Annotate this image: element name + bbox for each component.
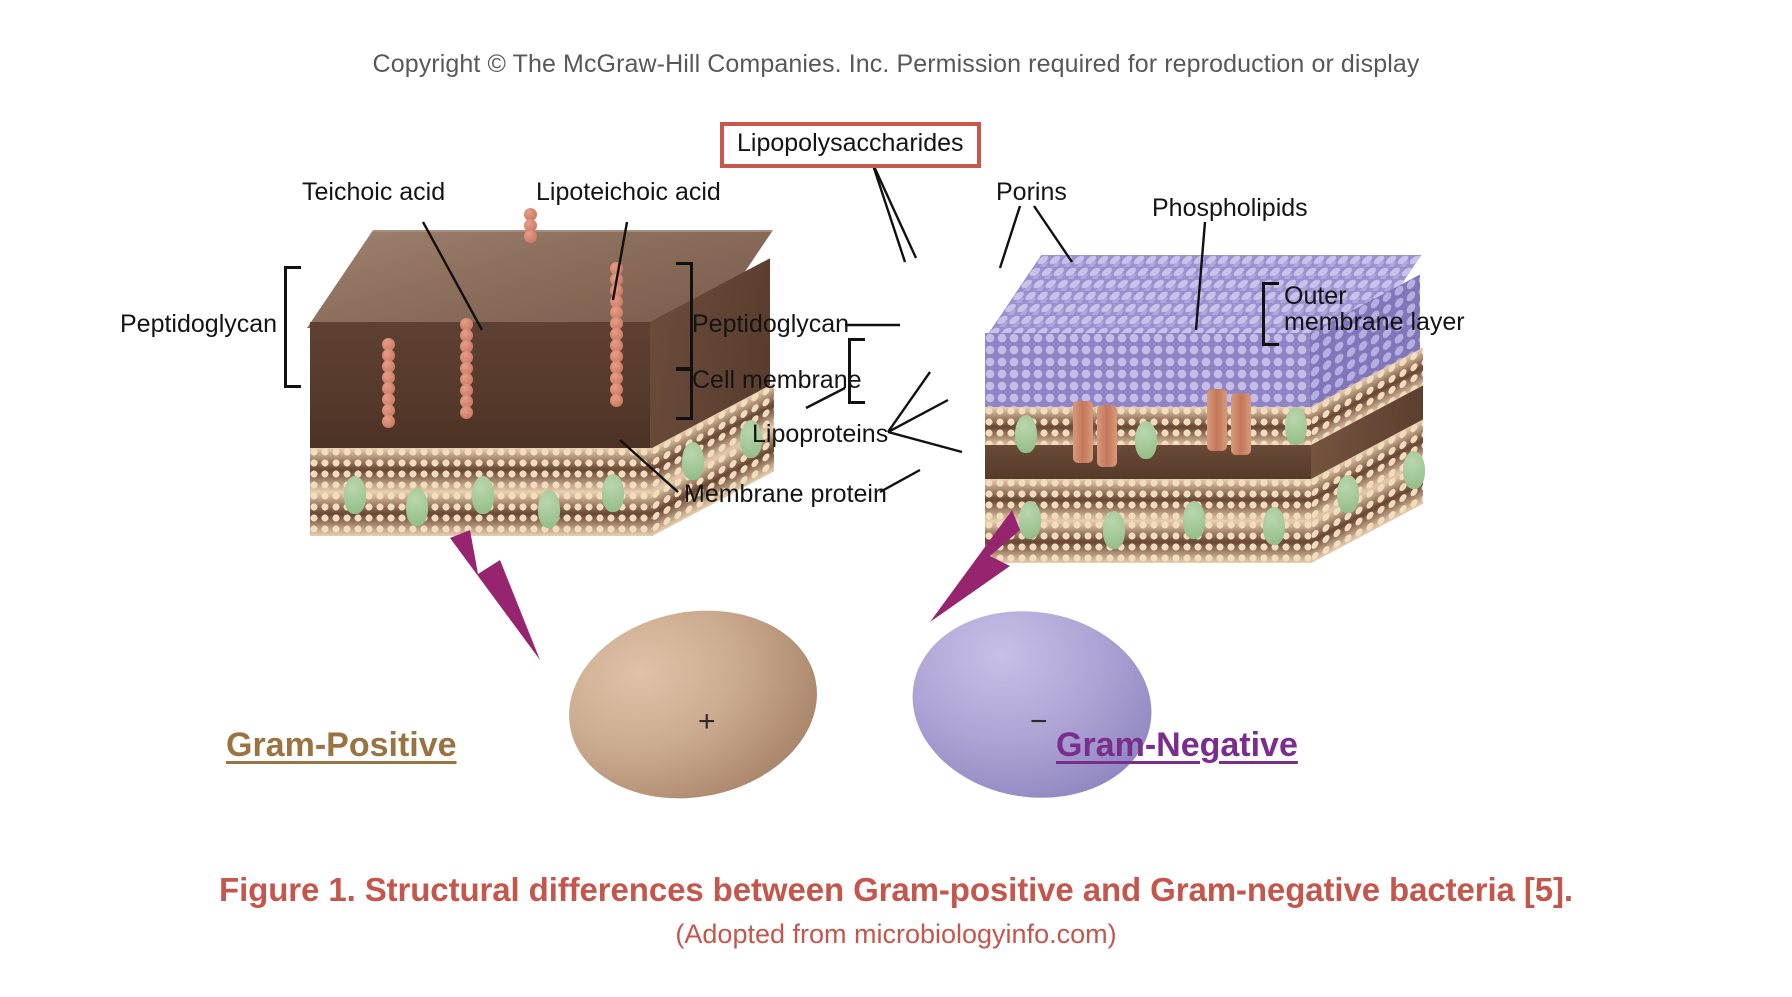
lipoprotein-glyph [1015,415,1037,453]
gram-positive-charge-sign: + [698,705,716,739]
leader-porins-b [1034,206,1072,262]
label-membrane-protein: Membrane protein [684,480,887,508]
label-phospholipids: Phospholipids [1152,194,1308,222]
label-outer-membrane-line1: Outer [1284,282,1347,310]
porin-glyph [1073,401,1093,463]
lipoprotein-glyph [1135,421,1157,459]
leader-lipoproteins-b [888,432,962,452]
lipoteichoic-acid-chain [610,262,623,405]
bracket-peptidoglycan-center [676,262,693,370]
label-outer-membrane-line2: membrane layer [1284,308,1465,336]
copyright-notice: Copyright © The McGraw-Hill Companies. I… [0,50,1792,79]
membrane-protein-glyph [406,488,428,526]
lipoprotein-glyph [1183,501,1205,539]
gram-negative-charge-sign: − [1030,705,1048,739]
label-porins: Porins [996,178,1067,206]
label-cell-membrane: Cell membrane [692,366,862,394]
label-peptidoglycan-left: Peptidoglycan [120,310,277,338]
membrane-protein-glyph [682,442,704,480]
bracket-peptidoglycan-left [284,266,301,388]
leader-lipopolysaccharides-a [872,162,905,262]
label-lipoproteins: Lipoproteins [752,420,888,448]
porin-glyph [1097,405,1117,467]
teichoic-acid-chain [524,208,537,241]
gram-negative-title: Gram-Negative [1056,726,1298,765]
label-teichoic-acid: Teichoic acid [302,178,445,206]
gram-positive-cell [553,590,834,819]
figure-caption-source: (Adopted from microbiologyinfo.com) [0,919,1792,950]
figure-caption-main: Figure 1. Structural differences between… [0,871,1792,909]
teichoic-acid-chain [382,338,395,426]
lipoprotein-glyph [1103,511,1125,549]
bracket-cell-membrane [676,368,693,420]
peptidoglycan-block-front [310,322,650,452]
leader-lipoproteins-c [888,372,930,432]
leader-lipoproteins-a [888,400,948,432]
label-lipoteichoic-acid: Lipoteichoic acid [536,178,721,206]
lipoprotein-glyph [1263,507,1285,545]
membrane-protein-glyph [602,474,624,512]
label-lipopolysaccharides: Lipopolysaccharides [720,122,981,168]
porin-glyph [1231,393,1251,455]
bracket-outer-membrane [1262,282,1279,346]
gram-negative-illustration [985,255,1455,575]
membrane-protein-glyph [472,476,494,514]
lipoprotein-glyph [1019,501,1041,539]
label-peptidoglycan-center: Peptidoglycan [692,310,849,338]
membrane-protein-glyph [538,490,560,528]
lipoprotein-glyph [1285,407,1307,445]
lipoprotein-glyph [1403,451,1425,489]
teichoic-acid-chain [460,318,473,417]
leader-lipopolysaccharides-b [872,162,916,258]
lipoprotein-glyph [1337,475,1359,513]
gram-positive-illustration [310,230,810,560]
figure-canvas: Copyright © The McGraw-Hill Companies. I… [0,0,1792,997]
membrane-protein-glyph [344,476,366,514]
gram-positive-title: Gram-Positive [226,726,457,765]
porin-glyph [1207,389,1227,451]
